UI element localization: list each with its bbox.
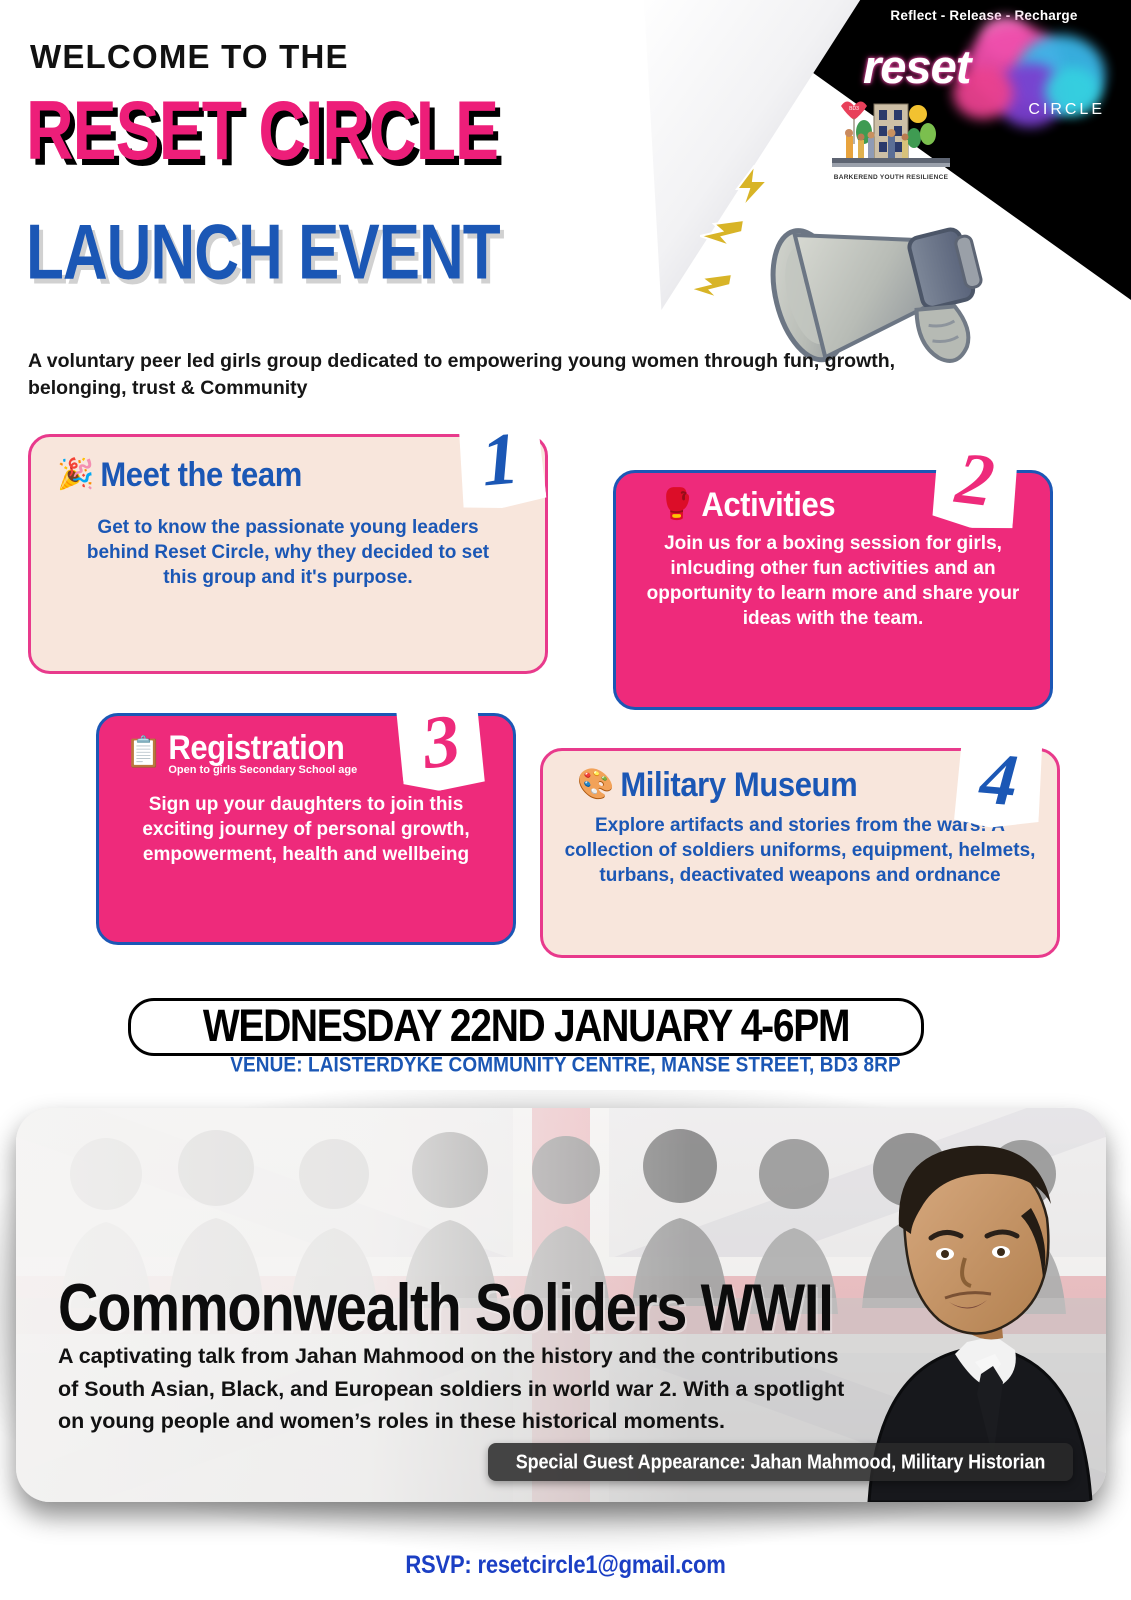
card-header: 🎉 Meet the team [57,457,519,493]
svg-text:BD3: BD3 [849,106,859,112]
event-venue-text: VENUE: LAISTERDYKE COMMUNITY CENTRE, MAN… [0,1053,1131,1078]
step-number-1-sticker: 1 [453,408,547,511]
lightning-bolt-icon [690,272,732,300]
card-body: Join us for a boxing session for girls, … [636,531,1030,631]
special-guest-text: Special Guest Appearance: Jahan Mahmood,… [516,1450,1046,1474]
partner-caption: BARKEREND YOUTH RESILIENCE [827,174,955,181]
party-popper-icon: 🎉 [57,460,94,490]
card-title: Meet the team [100,455,302,495]
step-number-2-sticker: 2 [926,427,1023,533]
card-body: Get to know the passionate young leaders… [57,515,519,590]
card-body: Sign up your daughters to join this exci… [119,792,493,867]
talk-description: A captivating talk from Jahan Mahmood on… [58,1340,848,1438]
event-date-text: WEDNESDAY 22ND JANUARY 4-6PM [203,1001,849,1052]
logo-wordmark: reset [863,39,1103,94]
partner-logo-byr: BD3 BARKEREND YOUTH RESILIENCE [827,92,955,181]
boxing-glove-icon: 🥊 [658,490,695,520]
special-guest-badge: Special Guest Appearance: Jahan Mahmood,… [488,1443,1073,1481]
clipboard-icon: 📋 [125,738,162,768]
step-number-3-sticker: 3 [392,688,491,795]
card-title: Activities [701,485,835,525]
brand-tagline: Reflect - Release - Recharge [849,8,1119,23]
title-line-1: RESET CIRCLE [26,82,498,178]
poster-root: Reflect - Release - Recharge reset CIRCL… [0,0,1131,1600]
event-date-banner: WEDNESDAY 22ND JANUARY 4-6PM [128,998,924,1056]
card-title: Military Museum [620,765,857,805]
welcome-kicker: WELCOME TO THE [30,38,349,76]
logo-subword: CIRCLE [1028,101,1105,119]
rsvp-line[interactable]: RSVP: resetcircle1@gmail.com [0,1550,1131,1579]
card-body: Explore artifacts and stories from the w… [563,813,1037,888]
lightning-bolt-icon [735,165,769,207]
lightning-bolt-icon [700,218,744,248]
talk-title: Commonwealth Soliders WWII [58,1268,833,1346]
card-title: Registration [168,728,357,768]
byr-illustration: BD3 [832,92,950,172]
intro-paragraph: A voluntary peer led girls group dedicat… [28,348,928,402]
artist-palette-icon: 🎨 [577,770,614,800]
title-line-2: LAUNCH EVENT [26,208,500,297]
step-number-4-sticker: 4 [952,728,1046,831]
